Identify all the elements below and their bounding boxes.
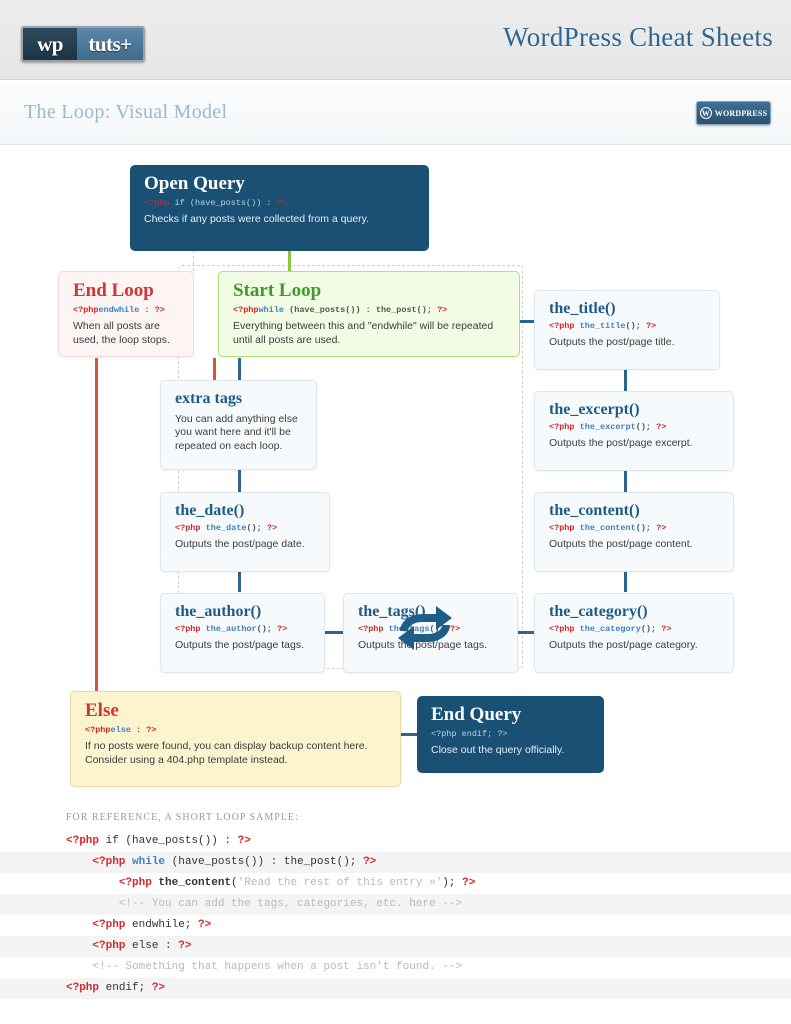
node-open-query-title: Open Query <box>144 174 417 195</box>
node-extra-tags-desc: You can add anything else you want here … <box>175 413 304 455</box>
app-header: wp tuts+ WordPress Cheat Sheets <box>0 0 791 80</box>
node-the-content-desc: Outputs the post/page content. <box>549 538 721 552</box>
node-start-loop-title: Start Loop <box>233 281 507 302</box>
node-the-author-title: the_author() <box>175 603 312 621</box>
node-open-query-code: <?php if (have_posts()) : ?> <box>144 198 417 208</box>
connector-endloop-vertical-long <box>95 358 98 691</box>
node-the-author-code: <?php the_author(); ?> <box>175 624 312 634</box>
node-the-excerpt[interactable]: the_excerpt() <?php the_excerpt(); ?> Ou… <box>534 391 734 471</box>
node-the-category-desc: Outputs the post/page category. <box>549 639 721 653</box>
code-line: <!-- Something that happens when a post … <box>0 957 791 978</box>
loop-cycle-icon <box>380 593 470 668</box>
logo-tuts-half: tuts+ <box>77 28 143 60</box>
node-the-title-code: <?php the_title(); ?> <box>549 321 707 331</box>
wordpress-logo-icon: W <box>700 107 712 119</box>
node-else-title: Else <box>85 701 388 722</box>
code-sample-section: FOR REFERENCE, A SHORT LOOP SAMPLE: <?ph… <box>0 812 791 999</box>
connector-thedate-to-theauthor <box>238 570 241 592</box>
node-start-loop-code: <?phpwhile (have_posts()) : the_post(); … <box>233 305 507 315</box>
code-line: <?php endif; ?> <box>0 978 791 999</box>
connector-extratags-to-thedate <box>238 470 241 492</box>
node-end-loop-desc: When all posts are used, the loop stops. <box>73 320 181 348</box>
node-open-query-desc: Checks if any posts were collected from … <box>144 213 417 227</box>
code-sample-lines: <?php if (have_posts()) : ?> <?php while… <box>0 831 791 999</box>
node-else[interactable]: Else <?phpelse : ?> If no posts were fou… <box>70 691 401 787</box>
sheet-title: WordPress Cheat Sheets <box>503 22 773 53</box>
code-line: <?php if (have_posts()) : ?> <box>0 831 791 852</box>
logo-wp-half: wp <box>23 28 77 60</box>
node-the-excerpt-desc: Outputs the post/page excerpt. <box>549 437 721 451</box>
node-the-content-title: the_content() <box>549 502 721 520</box>
node-open-query[interactable]: Open Query <?php if (have_posts()) : ?> … <box>130 165 429 251</box>
node-the-content[interactable]: the_content() <?php the_content(); ?> Ou… <box>534 492 734 572</box>
wptuts-logo[interactable]: wp tuts+ <box>21 26 145 62</box>
node-the-category-title: the_category() <box>549 603 721 621</box>
connector-thecontent-to-thecategory <box>624 570 627 592</box>
connector-theexcerpt-to-thecontent <box>624 470 627 492</box>
node-the-author[interactable]: the_author() <?php the_author(); ?> Outp… <box>160 593 325 673</box>
node-end-query-code: <?php endif; ?> <box>431 729 592 739</box>
node-the-category[interactable]: the_category() <?php the_category(); ?> … <box>534 593 734 673</box>
node-the-content-code: <?php the_content(); ?> <box>549 523 721 533</box>
node-start-loop-desc: Everything between this and "endwhile" w… <box>233 320 507 348</box>
node-the-title-desc: Outputs the post/page title. <box>549 336 707 350</box>
connector-endloop-to-extratags <box>213 358 216 380</box>
connector-startloop-to-extratags <box>238 358 241 380</box>
page-title: The Loop: Visual Model <box>24 101 227 124</box>
code-sample-label: FOR REFERENCE, A SHORT LOOP SAMPLE: <box>0 812 791 823</box>
node-end-loop[interactable]: End Loop <?phpendwhile : ?> When all pos… <box>58 271 194 357</box>
node-else-desc: If no posts were found, you can display … <box>85 740 388 768</box>
node-the-author-desc: Outputs the post/page tags. <box>175 639 312 653</box>
node-end-query-title: End Query <box>431 705 592 726</box>
node-end-loop-code: <?phpendwhile : ?> <box>73 305 181 315</box>
node-else-code: <?phpelse : ?> <box>85 725 388 735</box>
node-the-date-code: <?php the_date(); ?> <box>175 523 317 533</box>
logo-wp-text: wp <box>37 32 63 57</box>
connector-openquery-to-startloop <box>288 250 291 272</box>
node-the-date-title: the_date() <box>175 502 317 520</box>
wordpress-badge: W WORDPRESS <box>696 101 771 125</box>
code-line: <?php endwhile; ?> <box>0 915 791 936</box>
connector-openquery-down-left <box>193 250 194 272</box>
code-line: <!-- You can add the tags, categories, e… <box>0 894 791 915</box>
node-the-title-title: the_title() <box>549 300 707 318</box>
node-extra-tags[interactable]: extra tags You can add anything else you… <box>160 380 317 470</box>
node-the-date-desc: Outputs the post/page date. <box>175 538 317 552</box>
node-extra-tags-title: extra tags <box>175 390 304 408</box>
connector-thetitle-to-theexcerpt <box>624 369 627 391</box>
wordpress-badge-label: WORDPRESS <box>715 109 767 118</box>
code-line: <?php the_content('Read the rest of this… <box>0 873 791 894</box>
node-end-query[interactable]: End Query <?php endif; ?> Close out the … <box>417 696 604 773</box>
connector-theauthor-to-thetags <box>325 631 343 634</box>
node-the-excerpt-code: <?php the_excerpt(); ?> <box>549 422 721 432</box>
logo-tuts-text: tuts+ <box>88 32 131 57</box>
node-the-date[interactable]: the_date() <?php the_date(); ?> Outputs … <box>160 492 330 572</box>
node-the-category-code: <?php the_category(); ?> <box>549 624 721 634</box>
node-end-query-desc: Close out the query officially. <box>431 744 592 758</box>
node-the-excerpt-title: the_excerpt() <box>549 401 721 419</box>
code-line: <?php else : ?> <box>0 936 791 957</box>
node-end-loop-title: End Loop <box>73 281 181 302</box>
connector-else-to-endquery <box>401 733 417 736</box>
node-the-title[interactable]: the_title() <?php the_title(); ?> Output… <box>534 290 720 370</box>
node-start-loop[interactable]: Start Loop <?phpwhile (have_posts()) : t… <box>218 271 520 357</box>
loop-visual-diagram: Open Query <?php if (have_posts()) : ?> … <box>0 145 791 810</box>
code-line: <?php while (have_posts()) : the_post();… <box>0 852 791 873</box>
